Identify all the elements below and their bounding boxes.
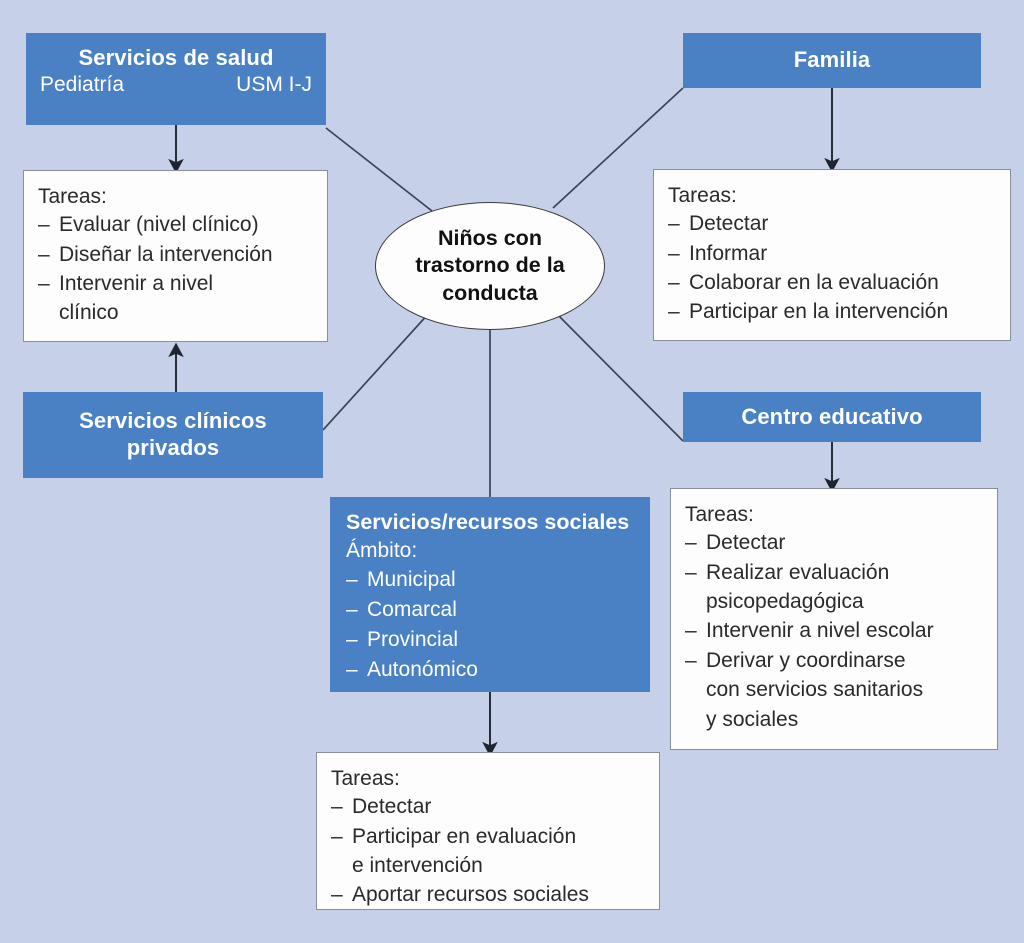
node-social-services-tasks[interactable]: Tareas: Detectar Participar en evaluació…: [316, 752, 660, 910]
list-item: Detectar: [331, 792, 645, 821]
list-item: Comarcal: [346, 595, 650, 625]
health-services-subtitles: Pediatría USM I-J: [26, 72, 326, 98]
node-health-services[interactable]: Servicios de salud Pediatría USM I-J: [26, 33, 326, 125]
list-item: Aportar recursos sociales: [331, 880, 645, 909]
social-tasks-header: Tareas:: [331, 765, 645, 792]
list-item: Informar: [668, 239, 996, 268]
list-item: Provincial: [346, 625, 650, 655]
node-family-tasks[interactable]: Tareas: Detectar Informar Colaborar en l…: [653, 169, 1011, 341]
list-item: Colaborar en la evaluación: [668, 268, 996, 297]
node-private-clinical-services[interactable]: Servicios clínicos privados: [23, 392, 323, 478]
private-clinical-line-2: privados: [79, 435, 267, 462]
edge-private-to-center: [323, 312, 430, 430]
node-social-services[interactable]: Servicios/recursos sociales Ámbito: Muni…: [330, 497, 650, 692]
center-line-3: conducta: [415, 280, 564, 308]
center-line-1: Niños con: [415, 225, 564, 253]
family-tasks-list: Detectar Informar Colaborar en la evalua…: [668, 209, 996, 327]
list-item: Participar en la intervención: [668, 297, 996, 326]
node-health-services-tasks[interactable]: Tareas: Evaluar (nivel clínico) Diseñar …: [23, 170, 328, 342]
social-tasks-list: Detectar Participar en evaluación e inte…: [331, 792, 645, 910]
private-clinical-services-title: Servicios clínicos privados: [79, 408, 267, 462]
list-item: Detectar: [685, 528, 983, 557]
educenter-tasks-list: Detectar Realizar evaluación psicopedagó…: [685, 528, 983, 734]
list-item: Evaluar (nivel clínico): [38, 210, 313, 239]
center-line-2: trastorno de la: [415, 252, 564, 280]
educenter-tasks-header: Tareas:: [685, 501, 983, 528]
health-tasks-header: Tareas:: [38, 183, 313, 210]
list-item: Detectar: [668, 209, 996, 238]
social-services-list: Municipal Comarcal Provincial Autonómico: [346, 565, 650, 684]
list-item: Realizar evaluación psicopedagógica: [685, 558, 983, 617]
list-item: Autonómico: [346, 655, 650, 685]
diagram-canvas: Servicios de salud Pediatría USM I-J Tar…: [0, 0, 1024, 943]
family-tasks-header: Tareas:: [668, 182, 996, 209]
health-tasks-list: Evaluar (nivel clínico) Diseñar la inter…: [38, 210, 313, 328]
edge-health-to-center: [326, 128, 432, 211]
list-item: Municipal: [346, 565, 650, 595]
social-services-scope-header: Ámbito:: [346, 537, 650, 566]
center-node-label: Niños con trastorno de la conducta: [415, 225, 564, 308]
social-services-title: Servicios/recursos sociales: [346, 509, 650, 537]
health-services-title: Servicios de salud: [26, 45, 326, 72]
list-item: Intervenir a nivel clínico: [38, 269, 313, 328]
list-item: Derivar y coordinarse con servicios sani…: [685, 646, 983, 734]
list-item: Intervenir a nivel escolar: [685, 616, 983, 645]
list-item: Diseñar la intervención: [38, 240, 313, 269]
private-clinical-line-1: Servicios clínicos: [79, 408, 267, 435]
list-item: Participar en evaluación e intervención: [331, 822, 645, 881]
node-educational-center[interactable]: Centro educativo: [683, 392, 981, 442]
node-family[interactable]: Familia: [683, 33, 981, 88]
educational-center-title: Centro educativo: [741, 404, 922, 431]
family-title: Familia: [794, 47, 871, 74]
health-services-sub-right: USM I-J: [236, 72, 312, 98]
node-educational-center-tasks[interactable]: Tareas: Detectar Realizar evaluación psi…: [670, 488, 998, 750]
center-node-ellipse[interactable]: Niños con trastorno de la conducta: [375, 202, 605, 330]
health-services-sub-left: Pediatría: [40, 72, 124, 98]
